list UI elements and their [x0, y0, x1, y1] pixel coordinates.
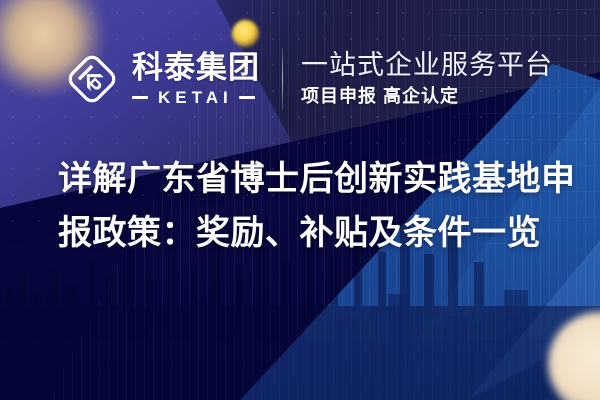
ketai-diamond-monogram-icon [62, 49, 122, 109]
brand-name-cn: 科泰集团 [132, 52, 260, 83]
slogan-main: 一站式企业服务平台 [301, 51, 553, 80]
title-line-2: 报政策：奖励、补贴及条件一览 [58, 206, 558, 260]
logo-text: 科泰集团 KETAI [132, 48, 260, 110]
brand-name-en: KETAI [148, 89, 239, 106]
slogan-sub: 项目申报 高企认定 [301, 87, 553, 107]
title-line-1: 详解广东省博士后创新实践基地申 [58, 152, 558, 206]
right-dash-icon [239, 96, 255, 99]
banner-header: 科泰集团 KETAI 一站式企业服务平台 项目申报 高企认定 [62, 44, 553, 114]
left-dash-icon [132, 96, 148, 99]
banner-title: 详解广东省博士后创新实践基地申 报政策：奖励、补贴及条件一览 [58, 152, 558, 260]
promo-banner: 科泰集团 KETAI 一站式企业服务平台 项目申报 高企认定 详解广东省博士后创… [0, 0, 600, 400]
slogan-block: 一站式企业服务平台 项目申报 高企认定 [301, 47, 553, 111]
brand-name-en-row: KETAI [132, 89, 260, 106]
header-divider [282, 48, 283, 110]
